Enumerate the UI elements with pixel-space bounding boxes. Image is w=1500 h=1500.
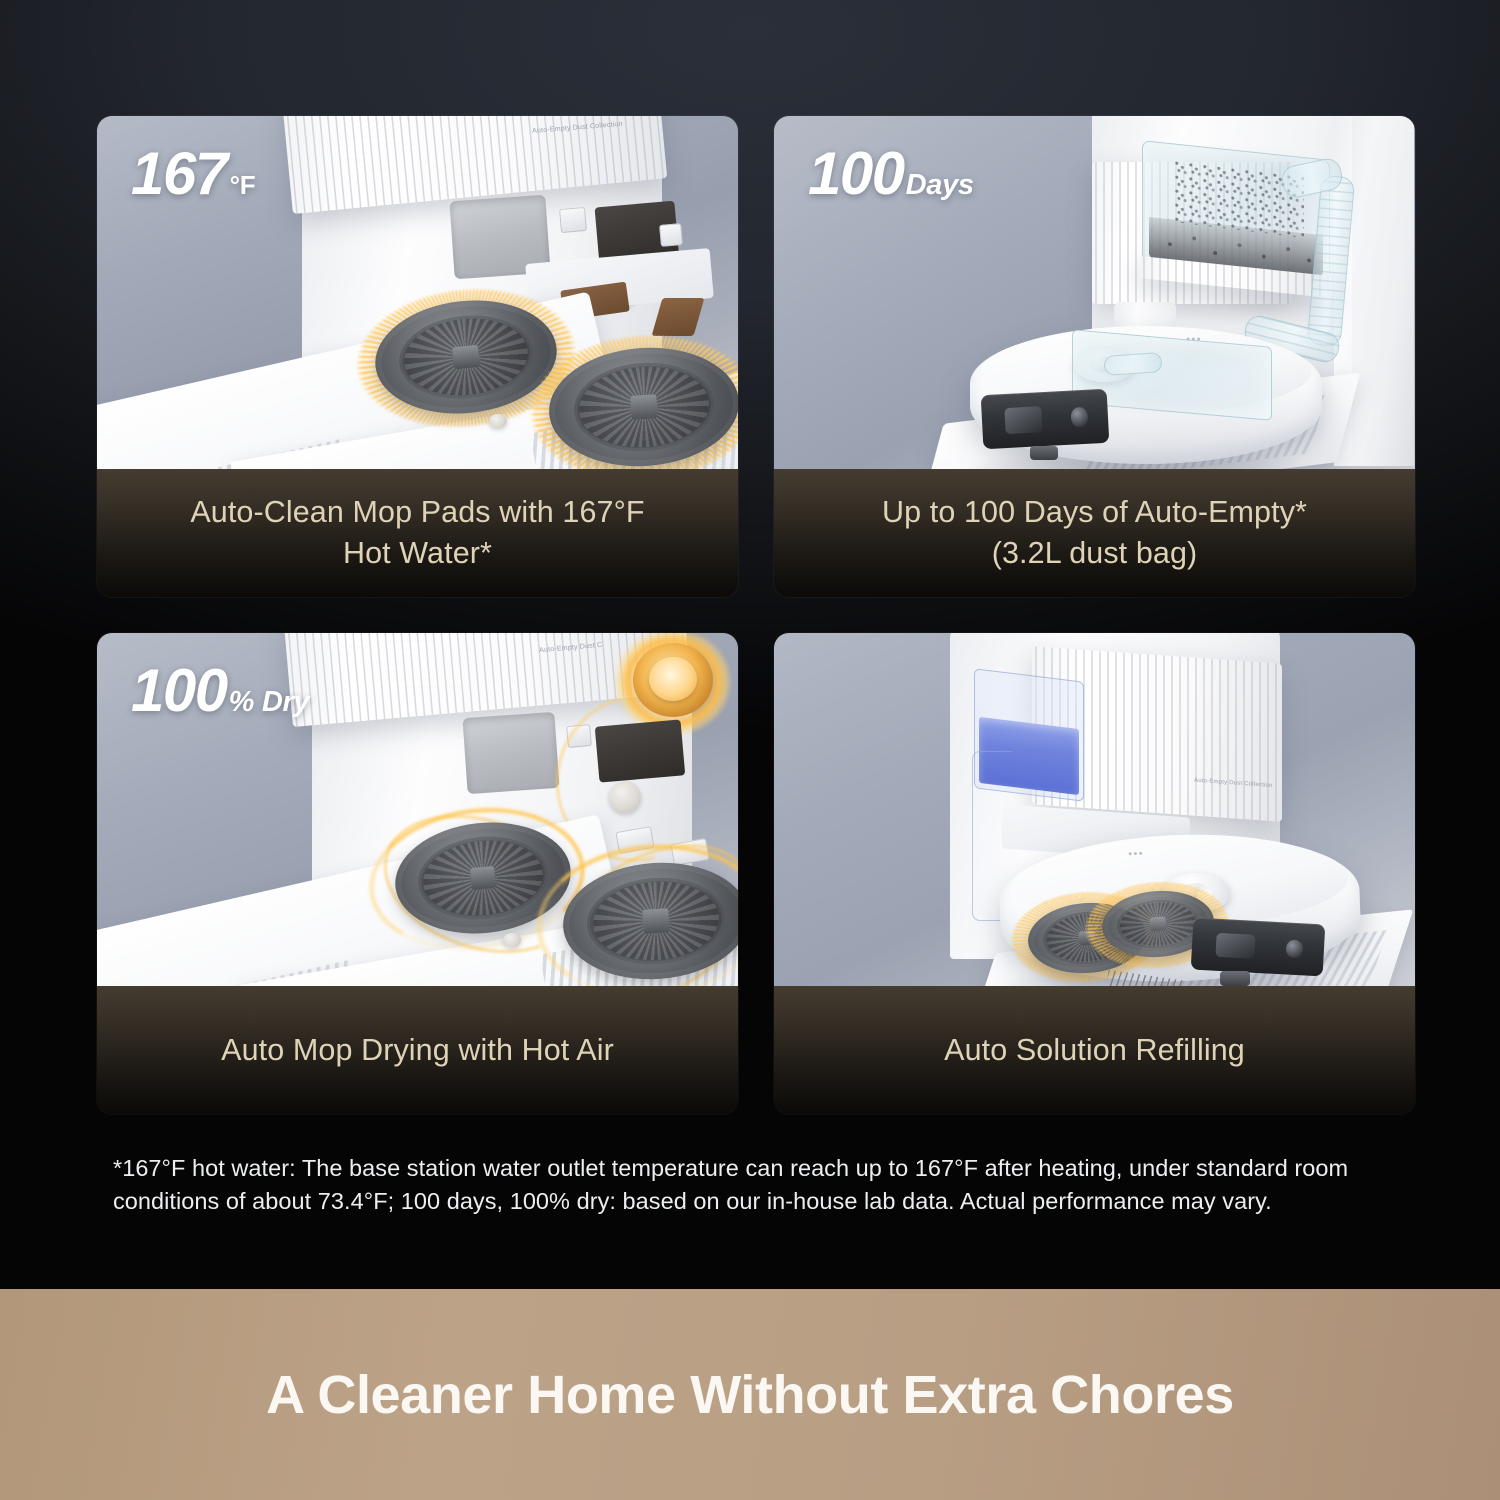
robot-camera-lens — [1215, 932, 1256, 959]
stat-badge-value: 167 — [131, 144, 227, 204]
bottom-banner: A Cleaner Home Without Extra Chores — [0, 1289, 1500, 1500]
feature-caption-bar-4: Auto Solution Refilling — [774, 986, 1415, 1114]
station-latch-left — [559, 207, 587, 233]
feature-card-auto-empty-days[interactable]: ●●● 100 Days — [774, 116, 1415, 597]
stat-badge-value: 100 — [808, 144, 904, 204]
robot-wheel — [1030, 446, 1058, 460]
stat-badge-167f: 167 °F — [131, 144, 255, 204]
robot-sensor-dot — [1285, 939, 1303, 959]
legal-footnote: *167°F hot water: The base station water… — [113, 1152, 1393, 1219]
tray-bump — [489, 414, 507, 428]
feature-card-auto-mop-drying[interactable]: Auto-Empty Dust C — [97, 633, 738, 1114]
caption-line: Up to 100 Days of Auto-Empty* — [882, 492, 1307, 533]
caption-line: (3.2L dust bag) — [882, 533, 1307, 574]
feature-caption-bar-1: Auto-Clean Mop Pads with 167°F Hot Water… — [97, 469, 738, 597]
stat-badge-100-dry: 100 % Dry — [131, 661, 309, 721]
feature-card-auto-clean-mop-pads[interactable]: Auto-Empty Dust Collection — [97, 116, 738, 597]
station-cavity — [462, 712, 559, 794]
illustration-solution-refill-scene: Auto-Empty Dust Collection — [774, 633, 1415, 986]
feature-caption-text-4: Auto Solution Refilling — [944, 1030, 1245, 1071]
robot-wheel — [1220, 971, 1250, 986]
caption-line: Hot Water* — [190, 533, 644, 574]
feature-caption-text-2: Up to 100 Days of Auto-Empty* (3.2L dust… — [882, 492, 1307, 573]
station-latch-right — [659, 223, 683, 247]
stat-badge-value: 100 — [131, 661, 227, 721]
robot-front-bumper[interactable] — [1191, 918, 1326, 977]
caption-line: Auto-Clean Mop Pads with 167°F — [190, 492, 644, 533]
stat-badge-100-days: 100 Days — [808, 144, 974, 204]
stat-badge-unit: Days — [906, 171, 974, 200]
feature-image-auto-mop-drying: Auto-Empty Dust C — [97, 633, 738, 986]
robot-sensor-dot — [1071, 407, 1088, 427]
robot-brand-mark: ●●● — [1128, 850, 1144, 858]
feature-grid: Auto-Empty Dust Collection — [97, 116, 1415, 1114]
caption-line: Auto Mop Drying with Hot Air — [221, 1030, 614, 1071]
feature-caption-text-1: Auto-Clean Mop Pads with 167°F Hot Water… — [190, 492, 644, 573]
feature-caption-bar-3: Auto Mop Drying with Hot Air — [97, 986, 738, 1114]
mop-pad-spokes-2 — [577, 362, 712, 451]
product-feature-collage: Auto-Empty Dust Collection — [0, 0, 1500, 1500]
robot-front-bumper[interactable] — [981, 389, 1110, 450]
mop-pad-spokes-1 — [420, 835, 547, 922]
feature-image-auto-solution-refilling: Auto-Empty Dust Collection — [774, 633, 1415, 986]
feature-card-auto-solution-refilling[interactable]: Auto-Empty Dust Collection — [774, 633, 1415, 1114]
mop-pad-spokes-2 — [590, 877, 722, 965]
feature-caption-bar-2: Up to 100 Days of Auto-Empty* (3.2L dust… — [774, 469, 1415, 597]
tray-bump — [503, 933, 521, 947]
feature-caption-text-3: Auto Mop Drying with Hot Air — [221, 1030, 614, 1071]
stat-badge-unit: % Dry — [229, 688, 310, 717]
banner-title: A Cleaner Home Without Extra Chores — [266, 1368, 1234, 1422]
feature-image-auto-clean-mop-pads: Auto-Empty Dust Collection — [97, 116, 738, 469]
caption-line: Auto Solution Refilling — [944, 1030, 1245, 1071]
robot-bin-port — [1103, 352, 1162, 376]
stat-badge-unit: °F — [230, 172, 256, 198]
mop-pad-spokes-2 — [1118, 899, 1197, 949]
mop-pad-spokes-1 — [400, 313, 531, 402]
robot-camera-lens — [1004, 406, 1043, 434]
feature-image-auto-empty-days: ●●● 100 Days — [774, 116, 1415, 469]
